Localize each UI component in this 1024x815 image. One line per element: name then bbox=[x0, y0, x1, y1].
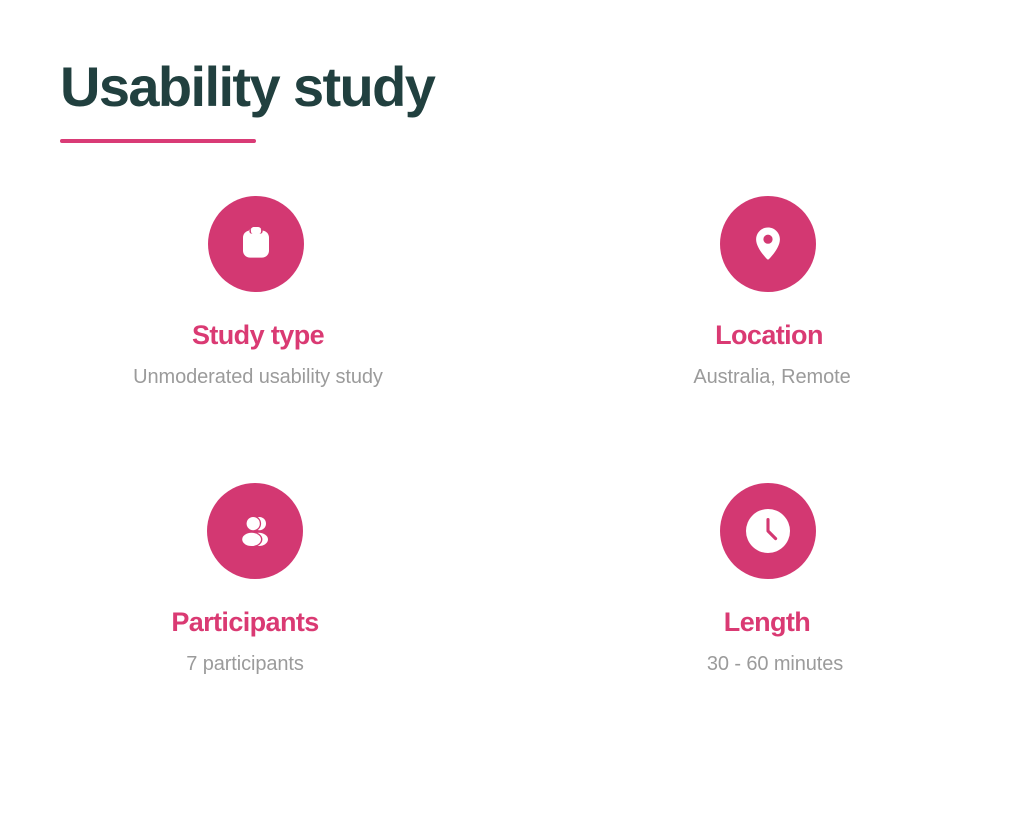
clock-icon bbox=[746, 509, 790, 553]
card-study-type: Study type Unmoderated usability study bbox=[0, 196, 512, 389]
card-length: Length 30 - 60 minutes bbox=[512, 483, 1024, 676]
people-icon bbox=[233, 509, 277, 553]
card-location: Location Australia, Remote bbox=[512, 196, 1024, 389]
card-icon-badge bbox=[720, 483, 816, 579]
card-icon-badge bbox=[720, 196, 816, 292]
card-value: 30 - 60 minutes bbox=[707, 638, 843, 676]
card-icon-badge bbox=[208, 196, 304, 292]
card-participants: Participants 7 participants bbox=[0, 483, 512, 676]
title-underline-rule bbox=[60, 139, 256, 143]
study-details-grid: Study type Unmoderated usability study L… bbox=[0, 196, 1024, 676]
card-value: 7 participants bbox=[186, 638, 304, 676]
clipboard-icon bbox=[234, 222, 278, 266]
study-details-row-2: Participants 7 participants Length 30 - … bbox=[0, 483, 1024, 676]
card-value: Australia, Remote bbox=[693, 351, 850, 389]
page-title: Usability study bbox=[60, 58, 434, 117]
map-pin-icon bbox=[746, 222, 790, 266]
card-title: Location bbox=[715, 292, 823, 351]
card-title: Length bbox=[724, 579, 810, 638]
card-title: Study type bbox=[192, 292, 324, 351]
card-value: Unmoderated usability study bbox=[133, 351, 383, 389]
page-header: Usability study bbox=[60, 58, 434, 143]
card-icon-badge bbox=[207, 483, 303, 579]
card-title: Participants bbox=[171, 579, 318, 638]
usability-study-overview: Usability study Study type bbox=[0, 0, 1024, 815]
study-details-row-1: Study type Unmoderated usability study L… bbox=[0, 196, 1024, 389]
